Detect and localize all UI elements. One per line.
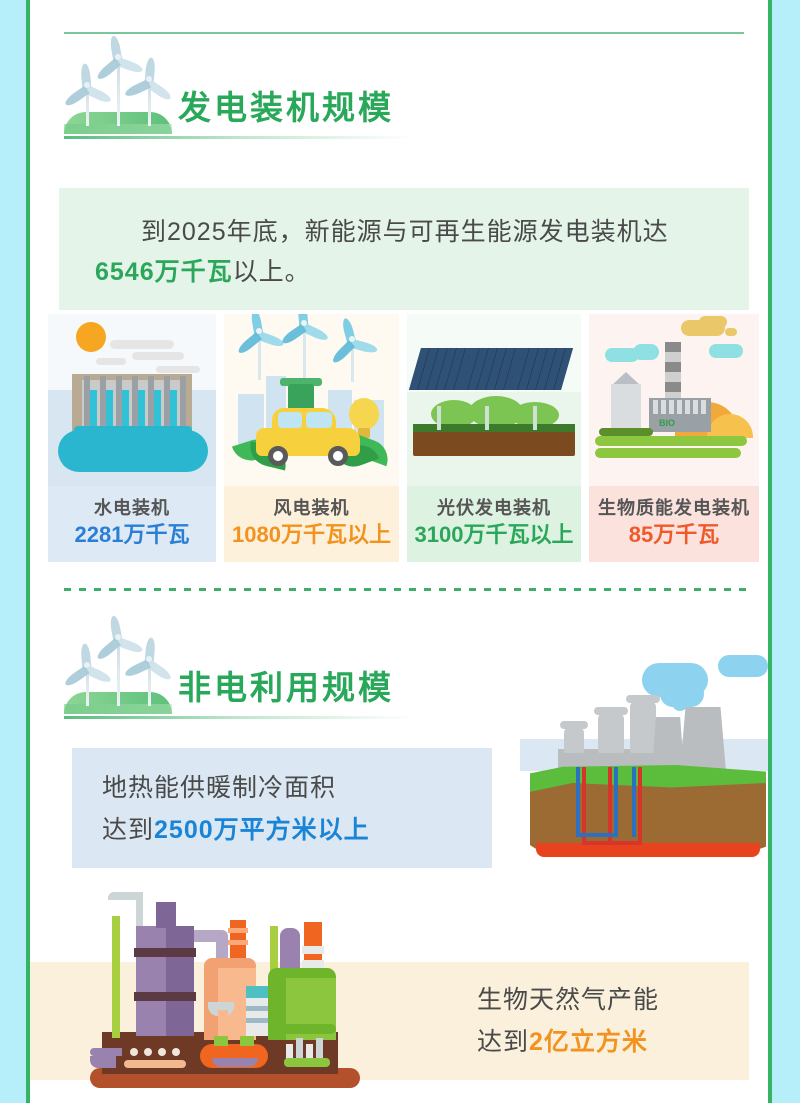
hydro-dam-icon (48, 314, 216, 486)
wind-car-icon (224, 314, 399, 486)
geothermal-plant-icon (520, 655, 768, 870)
card-hydropower[interactable]: 水电装机 2281万千瓦 (48, 314, 216, 562)
statement-line-1: 生物天然气产能 (477, 978, 659, 1022)
card-label: 生物质能发电装机 (589, 498, 759, 519)
infographic-page: 发电装机规模 到2025年底，新能源与可再生能源发电装机达 6546万千瓦以上。 (0, 0, 800, 1103)
card-value: 1080万千瓦以上 (224, 522, 399, 548)
card-label: 风电装机 (224, 498, 399, 519)
section-title-nonelectric: 非电利用规模 (178, 671, 394, 714)
wind-turbine-hill-icon (64, 628, 172, 714)
sun-icon (76, 322, 106, 352)
section-underline-nonelectric (64, 716, 414, 719)
solar-panel-icon (407, 314, 581, 486)
statement-highlight-value: 6546万千瓦 (95, 258, 233, 286)
lightbulb-icon (349, 398, 379, 430)
card-wind-power[interactable]: 风电装机 1080万千瓦以上 (224, 314, 399, 562)
statement-prefix: 达到 (477, 1028, 529, 1056)
statement-line-2: 达到2500万平方米以上 (102, 808, 370, 852)
statement-tail: 以上。 (233, 258, 311, 286)
card-caption-biomass: 生物质能发电装机 85万千瓦 (589, 498, 759, 548)
infographic-canvas: 发电装机规模 到2025年底，新能源与可再生能源发电装机达 6546万千瓦以上。 (26, 0, 772, 1103)
card-value: 3100万千瓦以上 (407, 522, 581, 548)
card-biomass[interactable]: BIO 生物质能发电装机 85万千瓦 (589, 314, 759, 562)
statement-line-1: 到2025年底，新能源与可再生能源发电装机达 (141, 210, 669, 254)
card-caption-wind-power: 风电装机 1080万千瓦以上 (224, 498, 399, 548)
refinery-plant-icon (90, 872, 400, 1103)
card-label: 水电装机 (48, 498, 216, 519)
biomass-plant-icon: BIO (589, 314, 759, 486)
statement-line-2: 达到2亿立方米 (477, 1020, 648, 1064)
top-divider-line (64, 32, 744, 34)
statement-prefix: 达到 (102, 816, 154, 844)
section-title-power: 发电装机规模 (178, 91, 394, 134)
wind-turbine-hill-icon (64, 48, 172, 134)
card-photovoltaic[interactable]: 光伏发电装机 3100万千瓦以上 (407, 314, 581, 562)
statement-highlight-value: 2亿立方米 (529, 1028, 648, 1056)
statement-power-capacity: 到2025年底，新能源与可再生能源发电装机达 6546万千瓦以上。 (59, 188, 749, 310)
section-dashed-divider (64, 588, 754, 591)
capacity-card-row: 水电装机 2281万千瓦 (30, 314, 768, 562)
card-caption-hydropower: 水电装机 2281万千瓦 (48, 498, 216, 548)
card-value: 2281万千瓦 (48, 522, 216, 548)
statement-line-1: 地热能供暖制冷面积 (102, 766, 336, 810)
card-label: 光伏发电装机 (407, 498, 581, 519)
statement-geothermal: 地热能供暖制冷面积 达到2500万平方米以上 (72, 748, 492, 868)
section-underline-power (64, 136, 414, 139)
card-value: 85万千瓦 (589, 522, 759, 548)
section-header-nonelectric: 非电利用规模 (64, 628, 394, 714)
statement-highlight-value: 2500万平方米以上 (154, 816, 370, 844)
section-header-power: 发电装机规模 (64, 48, 394, 134)
card-caption-photovoltaic: 光伏发电装机 3100万千瓦以上 (407, 498, 581, 548)
statement-line-2: 6546万千瓦以上。 (95, 250, 311, 294)
